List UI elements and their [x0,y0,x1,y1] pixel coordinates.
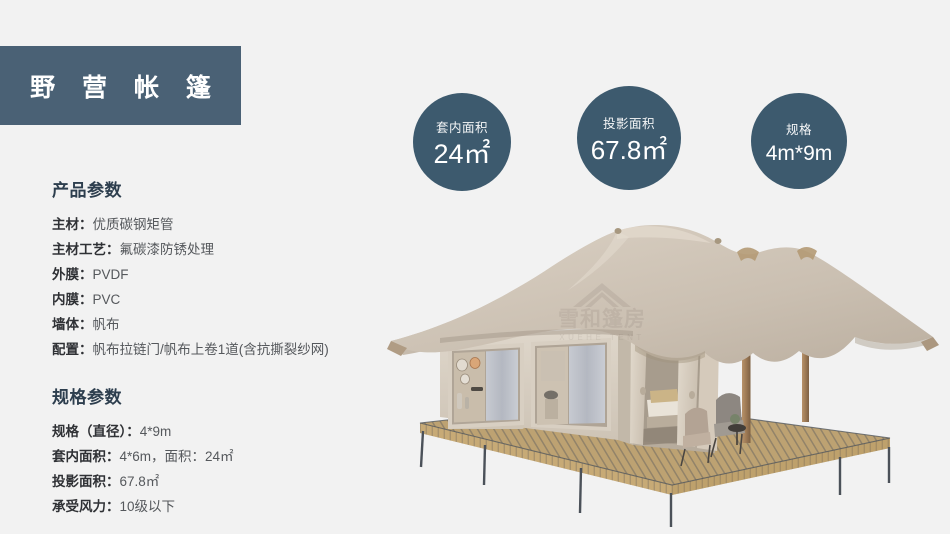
param-key: 内膜： [52,292,93,307]
canopy-main [391,225,933,363]
param-key: 承受风力： [52,499,120,514]
param-key: 墙体： [52,317,93,332]
param-row: 配置：帆布拉链门/帆布上卷1道(含抗撕裂纱网) [52,337,329,362]
section-heading: 规格参数 [52,383,234,408]
param-value: PVDF [93,267,129,282]
param-row: 套内面积：4*6m，面积：24㎡ [52,444,234,469]
badge-value: 4m*9m [766,143,833,164]
param-value: 67.8㎡ [120,474,160,489]
section-heading: 产品参数 [52,176,329,201]
param-key: 配置： [52,342,93,357]
page-title: 野 营 帐 篷 [20,68,221,104]
param-value: 氟碳漆防锈处理 [120,242,215,257]
param-key: 外膜： [52,267,93,282]
section-specification-parameters: 规格参数 规格（直径）：4*9m 套内面积：4*6m，面积：24㎡ 投影面积：6… [52,383,234,519]
param-row: 主材工艺：氟碳漆防锈处理 [52,237,329,262]
param-value: 10级以下 [120,499,176,514]
param-row: 内膜：PVC [52,287,329,312]
param-value: PVC [93,292,121,307]
param-value: 帆布拉链门/帆布上卷1道(含抗撕裂纱网) [93,342,329,357]
badge-projected-area: 投影面积 67.8㎡ [577,86,681,190]
param-row: 主材：优质碳钢矩管 [52,212,329,237]
param-key: 套内面积： [52,449,120,464]
badge-label: 套内面积 [436,117,488,136]
param-key: 投影面积： [52,474,120,489]
param-row: 外膜：PVDF [52,262,329,287]
param-value: 帆布 [93,317,120,332]
badge-value: 24㎡ [433,141,490,168]
poster-root: 野 营 帐 篷 产品参数 主材：优质碳钢矩管 主材工艺：氟碳漆防锈处理 外膜：P… [0,0,950,534]
window-left-curtain [486,350,518,421]
badge-label: 投影面积 [603,113,655,132]
section-product-parameters: 产品参数 主材：优质碳钢矩管 主材工艺：氟碳漆防锈处理 外膜：PVDF 内膜：P… [52,176,329,362]
param-row: 规格（直径）：4*9m [52,419,234,444]
canopy-peak-left [615,228,622,234]
param-key: 规格（直径）： [52,424,140,439]
badge-dimensions: 规格 4m*9m [751,93,847,189]
title-banner: 野 营 帐 篷 [0,46,241,125]
param-row: 投影面积：67.8㎡ [52,469,234,494]
param-value: 4*6m，面积：24㎡ [120,449,234,464]
param-key: 主材工艺： [52,242,120,257]
badge-interior-area: 套内面积 24㎡ [413,93,511,191]
tent-illustration [385,195,950,534]
badge-label: 规格 [786,119,812,138]
param-value: 4*9m [140,424,172,439]
param-row: 承受风力：10级以下 [52,494,234,519]
param-key: 主材： [52,217,93,232]
canopy-peak-right [715,238,722,244]
param-value: 优质碳钢矩管 [93,217,174,232]
window-right-curtain [569,345,605,424]
badge-value: 67.8㎡ [591,137,668,163]
param-row: 墙体：帆布 [52,312,329,337]
